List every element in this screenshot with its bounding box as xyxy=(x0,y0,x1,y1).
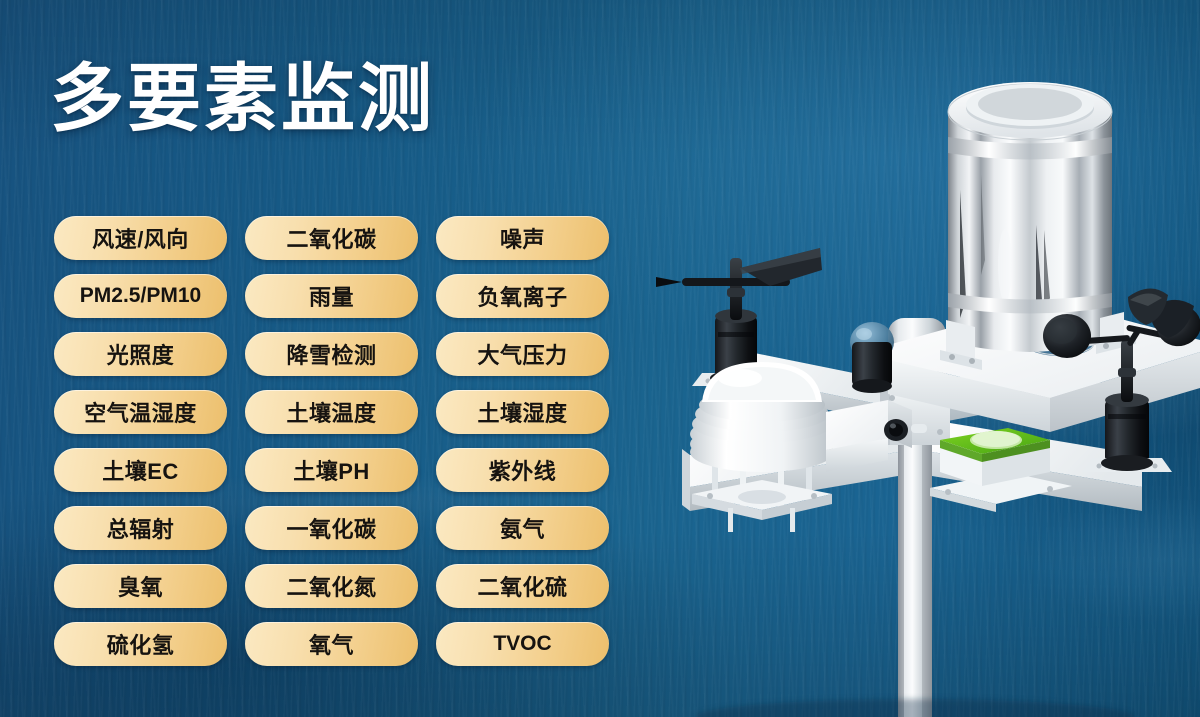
tag-label: 二氧化碳 xyxy=(286,222,376,254)
tag-negative-oxygen-ions[interactable]: 负氧离子 xyxy=(436,274,609,318)
weather-station-illustration xyxy=(630,0,1200,717)
tag-ultraviolet[interactable]: 紫外线 xyxy=(436,448,609,492)
tag-noise[interactable]: 噪声 xyxy=(436,216,609,260)
rain-gauge xyxy=(940,82,1136,370)
tag-carbon-monoxide[interactable]: 一氧化碳 xyxy=(245,506,418,550)
tag-pm25-pm10[interactable]: PM2.5/PM10 xyxy=(54,274,227,318)
tag-label: 雨量 xyxy=(309,280,354,312)
tag-sulfur-dioxide[interactable]: 二氧化硫 xyxy=(436,564,609,608)
page-title: 多要素监测 xyxy=(50,62,435,136)
tag-label: 氨气 xyxy=(500,512,545,544)
tag-hydrogen-sulfide[interactable]: 硫化氢 xyxy=(54,622,227,666)
tag-soil-ec[interactable]: 土壤EC xyxy=(54,448,227,492)
tag-label: 臭氧 xyxy=(118,570,163,602)
tag-ozone[interactable]: 臭氧 xyxy=(54,564,227,608)
tag-label: 紫外线 xyxy=(489,454,557,486)
tag-label: 光照度 xyxy=(107,338,175,370)
tag-label: 氧气 xyxy=(309,628,354,660)
tag-label: 空气温湿度 xyxy=(84,396,197,428)
tag-total-radiation[interactable]: 总辐射 xyxy=(54,506,227,550)
tag-label: 土壤温度 xyxy=(286,396,376,428)
tag-ammonia[interactable]: 氨气 xyxy=(436,506,609,550)
tag-label: 二氧化氮 xyxy=(286,570,376,602)
dome-sensor xyxy=(850,322,894,393)
mast-group xyxy=(898,430,932,717)
tag-rainfall[interactable]: 雨量 xyxy=(245,274,418,318)
tag-label: 硫化氢 xyxy=(107,628,175,660)
tag-label: 降雪检测 xyxy=(286,338,376,370)
tag-carbon-dioxide[interactable]: 二氧化碳 xyxy=(245,216,418,260)
soil-sensor-rear xyxy=(718,300,758,320)
tag-label: 负氧离子 xyxy=(477,280,567,312)
tag-label: 一氧化碳 xyxy=(286,512,376,544)
tag-wind-speed-direction[interactable]: 风速/风向 xyxy=(54,216,227,260)
tag-snowfall-detection[interactable]: 降雪检测 xyxy=(245,332,418,376)
tag-soil-ph[interactable]: 土壤PH xyxy=(245,448,418,492)
tag-label: 二氧化硫 xyxy=(477,570,567,602)
tag-label: 土壤湿度 xyxy=(477,396,567,428)
tag-nitrogen-dioxide[interactable]: 二氧化氮 xyxy=(245,564,418,608)
tag-label: 大气压力 xyxy=(477,338,567,370)
poster-canvas: 多要素监测 风速/风向二氧化碳噪声PM2.5/PM10雨量负氧离子光照度降雪检测… xyxy=(0,0,1200,717)
tag-label: PM2.5/PM10 xyxy=(80,284,201,308)
weather-station-svg xyxy=(630,0,1200,717)
tag-oxygen[interactable]: 氧气 xyxy=(245,622,418,666)
tag-label: 总辐射 xyxy=(107,512,175,544)
radiation-shield xyxy=(690,362,834,532)
tag-label: 噪声 xyxy=(500,222,545,254)
tag-soil-temperature[interactable]: 土壤温度 xyxy=(245,390,418,434)
tag-air-temp-humidity[interactable]: 空气温湿度 xyxy=(54,390,227,434)
tag-atmospheric-pressure[interactable]: 大气压力 xyxy=(436,332,609,376)
tag-label: TVOC xyxy=(493,632,551,656)
monitoring-parameter-grid: 风速/风向二氧化碳噪声PM2.5/PM10雨量负氧离子光照度降雪检测大气压力空气… xyxy=(54,216,609,666)
tag-soil-humidity[interactable]: 土壤湿度 xyxy=(436,390,609,434)
tag-label: 土壤EC xyxy=(102,454,179,486)
tag-illuminance[interactable]: 光照度 xyxy=(54,332,227,376)
tag-tvoc[interactable]: TVOC xyxy=(436,622,609,666)
tag-label: 土壤PH xyxy=(293,454,370,486)
tag-label: 风速/风向 xyxy=(92,222,189,254)
